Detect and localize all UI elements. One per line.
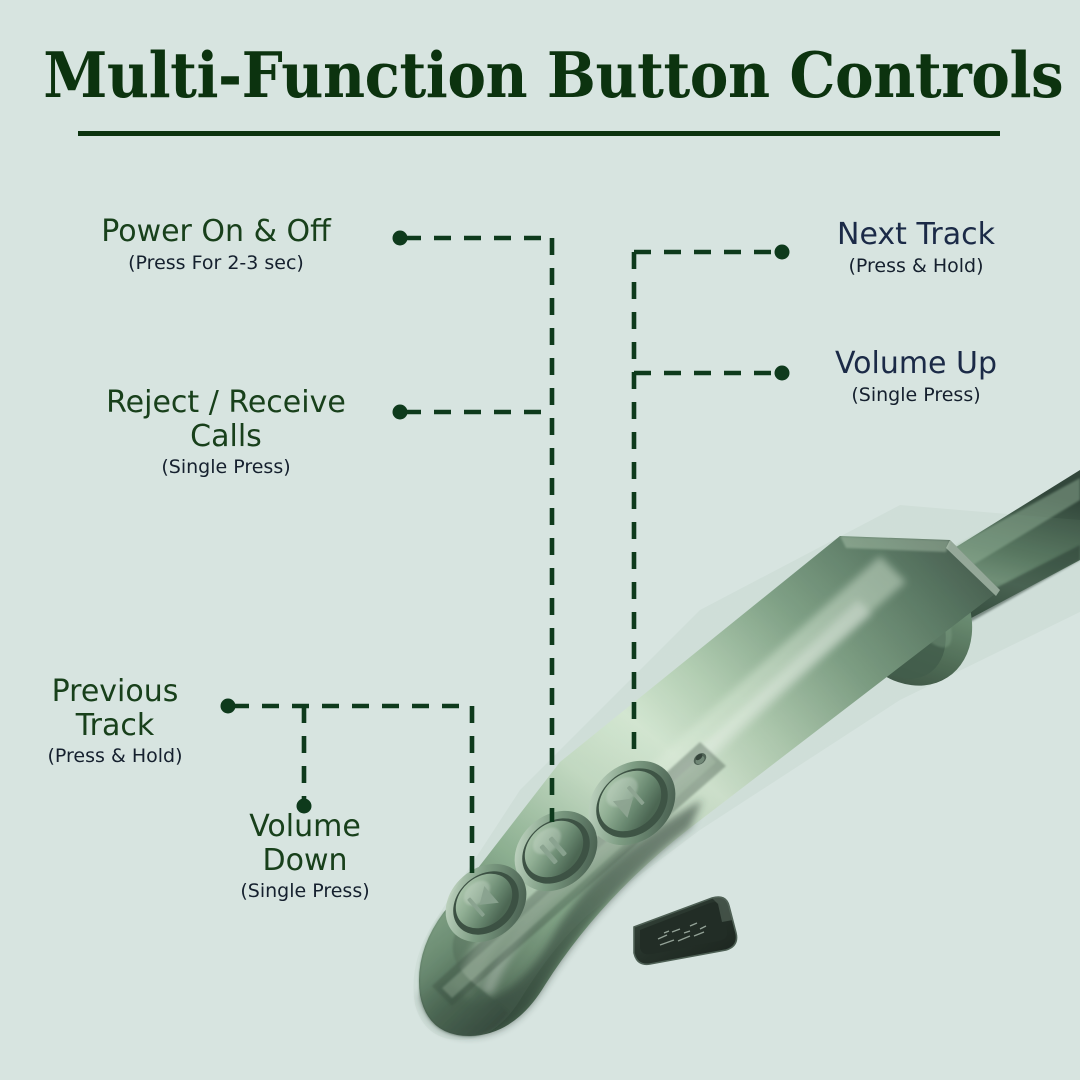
callout-volume-up-sub: (Single Press) — [800, 384, 1032, 407]
callout-power-sub: (Press For 2-3 sec) — [46, 252, 386, 275]
callout-power: Power On & Off (Press For 2-3 sec) — [46, 215, 386, 274]
callout-volume-down-sub: (Single Press) — [185, 880, 425, 903]
callout-volume-down-label: Volume Down — [185, 810, 425, 877]
callout-previous-track-label: Previous Track — [10, 675, 220, 742]
callout-next-track-sub: (Press & Hold) — [800, 255, 1032, 278]
callout-previous-track-sub: (Press & Hold) — [10, 745, 220, 768]
earbud-control-module — [0, 0, 1080, 1080]
title-underline — [78, 131, 1000, 136]
callout-previous-track: Previous Track (Press & Hold) — [10, 675, 220, 768]
callout-volume-up-label: Volume Up — [800, 347, 1032, 381]
callout-power-label: Power On & Off — [46, 215, 386, 249]
callout-next-track: Next Track (Press & Hold) — [800, 218, 1060, 277]
page-title: Multi-Function Button Controls — [43, 44, 1037, 107]
callout-volume-up: Volume Up (Single Press) — [800, 347, 1060, 406]
callout-calls: Reject / Receive Calls (Single Press) — [66, 386, 386, 479]
infographic-canvas: Multi-Function Button Controls Power On … — [0, 0, 1080, 1080]
callout-calls-sub: (Single Press) — [66, 456, 386, 479]
callout-volume-down: Volume Down (Single Press) — [185, 810, 425, 903]
callout-calls-label: Reject / Receive Calls — [66, 386, 386, 453]
callout-next-track-label: Next Track — [800, 218, 1032, 252]
branding-plate — [634, 897, 737, 964]
